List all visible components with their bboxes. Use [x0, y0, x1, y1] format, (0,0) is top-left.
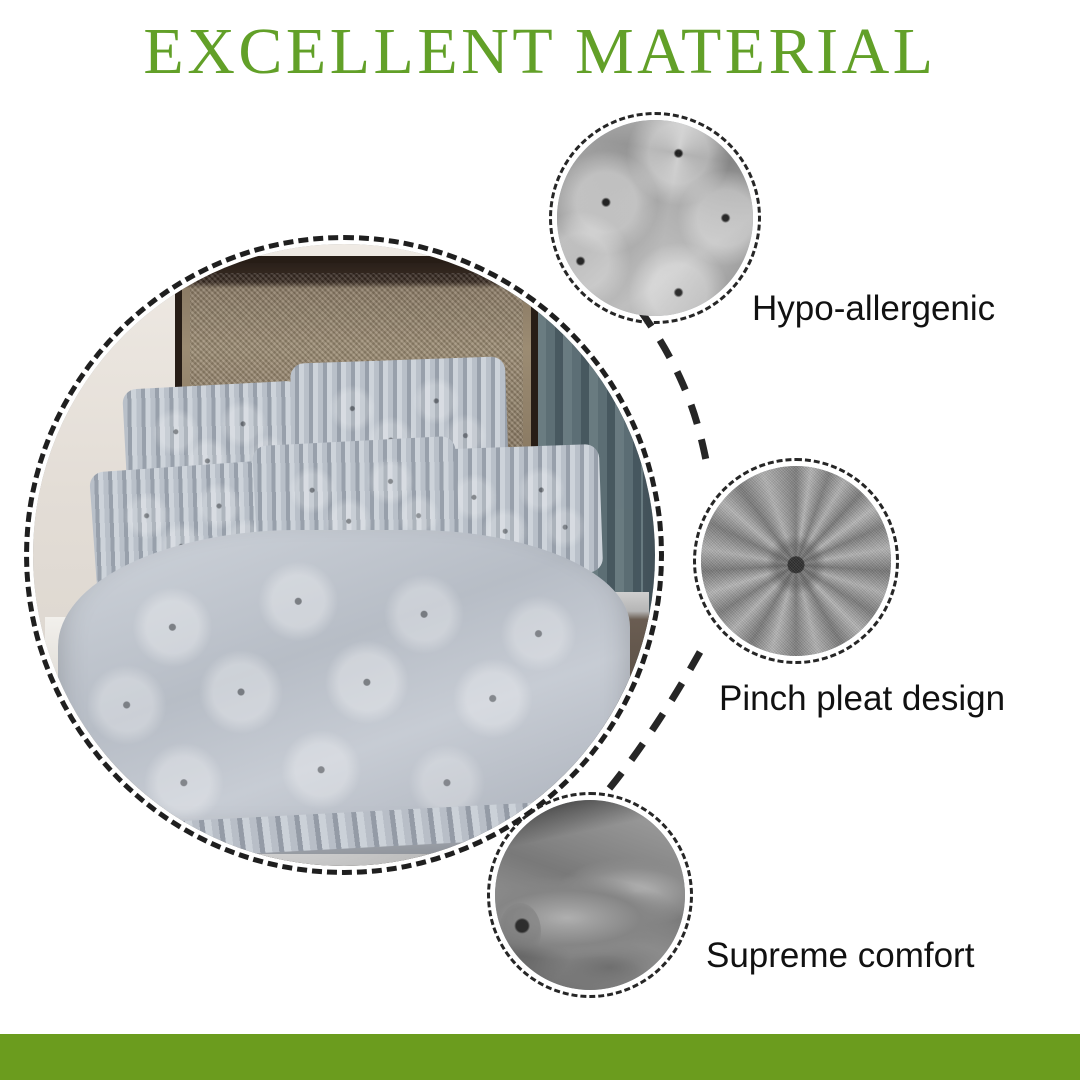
detail-dashed-ring-1: [549, 112, 761, 324]
feature-label-hypo-allergenic: Hypo-allergenic: [752, 288, 995, 330]
feature-label-pinch-pleat-design: Pinch pleat design: [719, 678, 1005, 720]
page-title: EXCELLENT MATERIAL: [0, 14, 1080, 90]
bottom-accent-band: [0, 1034, 1080, 1080]
detail-dashed-ring-2: [693, 458, 899, 664]
hero-dashed-ring: [24, 235, 664, 875]
product-feature-graphic: EXCELLENT MATERIAL Hypo-allergenic: [0, 0, 1080, 1080]
feature-label-supreme-comfort: Supreme comfort: [706, 935, 974, 977]
detail-dashed-ring-3: [487, 792, 693, 998]
